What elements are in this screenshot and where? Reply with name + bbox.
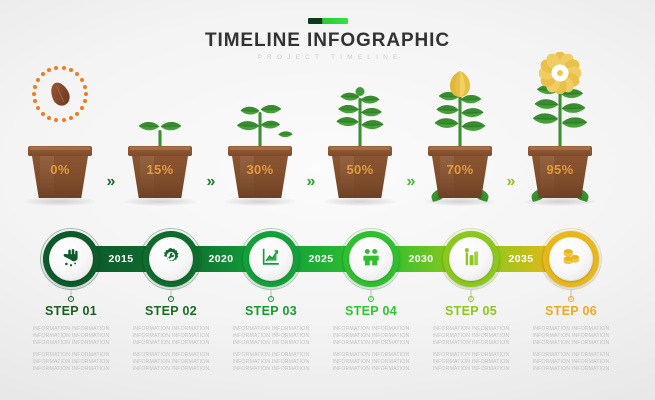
flower-pot: 70% [428, 146, 492, 198]
step-block-2: STEP 02INFORMATION INFORMATIONINFORMATIO… [117, 296, 225, 373]
growth-stage-6: 95% [510, 68, 610, 220]
step-title: STEP 06 [517, 304, 625, 319]
growth-stage-1: 0% [10, 68, 110, 220]
step-marker-dot [568, 296, 574, 302]
timeline-node-4[interactable] [340, 228, 402, 290]
growth-stage-4: 50% [310, 68, 410, 220]
growth-percent-label: 30% [228, 162, 292, 177]
two-people-icon [360, 246, 382, 273]
step-description: INFORMATION INFORMATIONINFORMATION INFOR… [117, 326, 225, 373]
step-description: INFORMATION INFORMATIONINFORMATION INFOR… [317, 326, 425, 373]
infographic-canvas: TIMELINE INFOGRAPHIC PROJECT TIMELINE 0%… [0, 0, 655, 400]
growth-percent-label: 0% [28, 162, 92, 177]
bar-chart-icon [460, 246, 482, 273]
step-title: STEP 03 [217, 304, 325, 319]
growth-percent-label: 50% [328, 162, 392, 177]
timeline-node-5[interactable] [440, 228, 502, 290]
step-description: INFORMATION INFORMATIONINFORMATION INFOR… [217, 326, 325, 373]
step-block-5: STEP 05INFORMATION INFORMATIONINFORMATIO… [417, 296, 525, 373]
step-block-1: STEP 01INFORMATION INFORMATIONINFORMATIO… [17, 296, 125, 373]
step-block-3: STEP 03INFORMATION INFORMATIONINFORMATIO… [217, 296, 325, 373]
growth-percent-label: 95% [528, 162, 592, 177]
pot-shadow [24, 197, 96, 206]
growth-stage-5: 70% [410, 68, 510, 220]
step-marker-dot [268, 296, 274, 302]
steps-row: STEP 01INFORMATION INFORMATIONINFORMATIO… [0, 296, 655, 386]
flower-pot: 95% [528, 146, 592, 198]
flower-pot: 15% [128, 146, 192, 198]
step-title: STEP 05 [417, 304, 525, 319]
step-title: STEP 02 [117, 304, 225, 319]
step-block-6: STEP 06INFORMATION INFORMATIONINFORMATIO… [517, 296, 625, 373]
growth-percent-label: 70% [428, 162, 492, 177]
step-marker-dot [168, 296, 174, 302]
gear-wrench-icon [160, 246, 182, 273]
flower-pot: 0% [28, 146, 92, 198]
title-accent-bar [308, 18, 348, 24]
growth-percent-label: 15% [128, 162, 192, 177]
step-description: INFORMATION INFORMATIONINFORMATION INFOR… [417, 326, 525, 373]
step-title: STEP 01 [17, 304, 125, 319]
pot-shadow [224, 197, 296, 206]
growth-stage-2: 15% [110, 68, 210, 220]
timeline-node-2[interactable] [140, 228, 202, 290]
flower-pot: 50% [328, 146, 392, 198]
hand-sowing-seeds-icon [60, 246, 82, 273]
step-description: INFORMATION INFORMATIONINFORMATION INFOR… [17, 326, 125, 373]
timeline-node-6[interactable] [540, 228, 602, 290]
timeline-node-3[interactable] [240, 228, 302, 290]
flower-pot: 30% [228, 146, 292, 198]
step-description: INFORMATION INFORMATIONINFORMATION INFOR… [517, 326, 625, 373]
seed-in-dotted-circle-icon [32, 66, 88, 122]
growth-stage-3: 30% [210, 68, 310, 220]
line-chart-icon [260, 246, 282, 273]
timeline-node-1[interactable] [40, 228, 102, 290]
step-marker-dot [368, 296, 374, 302]
growth-stages-row: 0%»15%»30%»50%»70%»95% [0, 68, 655, 220]
pot-shadow [324, 197, 396, 206]
timeline-row: 20152020202520302035 [0, 228, 655, 290]
step-block-4: STEP 04INFORMATION INFORMATIONINFORMATIO… [317, 296, 425, 373]
coins-icon [560, 246, 582, 273]
pot-shadow [124, 197, 196, 206]
step-marker-dot [468, 296, 474, 302]
step-title: STEP 04 [317, 304, 425, 319]
step-marker-dot [68, 296, 74, 302]
